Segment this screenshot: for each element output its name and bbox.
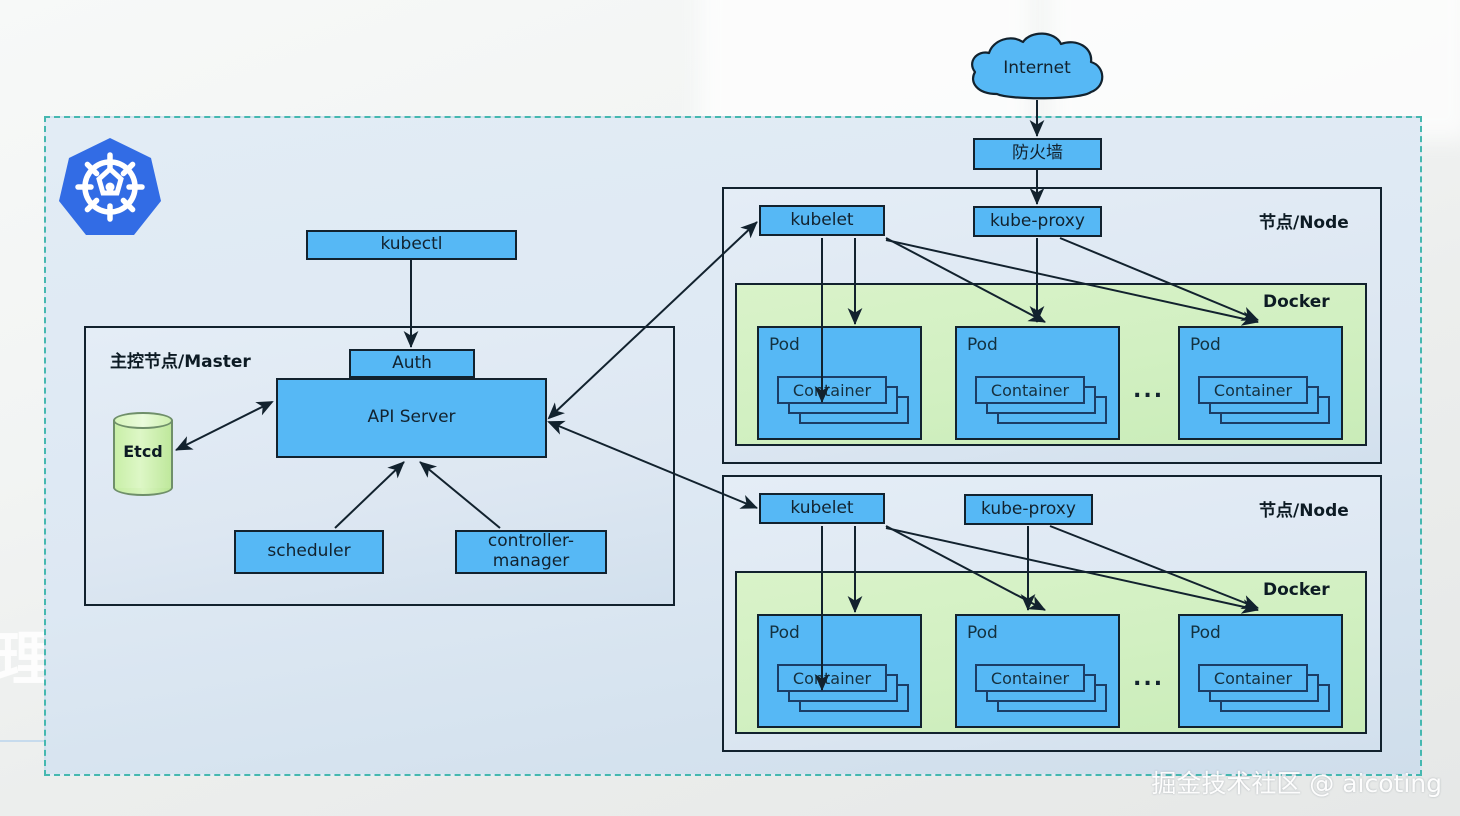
auth-box[interactable]: Auth bbox=[349, 349, 475, 378]
node-1-pod-3-label: Pod bbox=[1190, 335, 1221, 355]
watermark: 掘金技术社区 @ aicoting bbox=[1151, 764, 1442, 800]
etcd-label: Etcd bbox=[113, 442, 173, 461]
api-server-label: API Server bbox=[367, 408, 455, 428]
node-2-label: 节点/Node bbox=[1259, 496, 1349, 521]
node-1-pods-ellipsis: ... bbox=[1133, 380, 1164, 402]
node-2-pod-2-container-stack[interactable]: Container bbox=[975, 664, 1107, 716]
internet-cloud: Internet bbox=[963, 32, 1111, 104]
node-1-pod-1-container: Container bbox=[777, 376, 887, 404]
node-2-kubelet-label: kubelet bbox=[790, 499, 853, 519]
scheduler-label: scheduler bbox=[267, 542, 350, 562]
node-1-docker-label: Docker bbox=[1263, 292, 1330, 312]
node-2-kube-proxy-box[interactable]: kube-proxy bbox=[964, 494, 1093, 525]
etcd-top bbox=[113, 412, 173, 429]
node-1-pod-1-container-stack[interactable]: Container bbox=[777, 376, 909, 428]
controller-manager-box[interactable]: controller- manager bbox=[455, 530, 607, 574]
node-1-label: 节点/Node bbox=[1259, 208, 1349, 233]
api-server-box[interactable]: API Server bbox=[276, 378, 547, 458]
node-2-pod-1-label: Pod bbox=[769, 623, 800, 643]
node-1-pod-1[interactable]: Pod Container bbox=[757, 326, 922, 440]
node-1-pod-3-container: Container bbox=[1198, 376, 1308, 404]
node-2-docker-label: Docker bbox=[1263, 580, 1330, 600]
node-1-pod-2-container-stack[interactable]: Container bbox=[975, 376, 1107, 428]
internet-label: Internet bbox=[963, 58, 1111, 78]
node-1-kube-proxy-label: kube-proxy bbox=[990, 212, 1085, 232]
node-2-kubelet-box[interactable]: kubelet bbox=[759, 493, 885, 524]
kubectl-box[interactable]: kubectl bbox=[306, 230, 517, 260]
diagram-canvas: 理检 Internet bbox=[0, 0, 1460, 816]
node-2-pod-2-label: Pod bbox=[967, 623, 998, 643]
node-1-pod-2[interactable]: Pod Container bbox=[955, 326, 1120, 440]
node-2-pod-1[interactable]: Pod Container bbox=[757, 614, 922, 728]
node-2-pod-3-label: Pod bbox=[1190, 623, 1221, 643]
firewall-label: 防火墙 bbox=[1012, 144, 1063, 164]
node-1-pod-1-label: Pod bbox=[769, 335, 800, 355]
node-1-kubelet-box[interactable]: kubelet bbox=[759, 205, 885, 236]
node-1-kube-proxy-box[interactable]: kube-proxy bbox=[973, 206, 1102, 237]
kubectl-label: kubectl bbox=[380, 235, 442, 255]
etcd-cylinder[interactable]: Etcd bbox=[113, 412, 173, 496]
node-2-pod-3-container-stack[interactable]: Container bbox=[1198, 664, 1330, 716]
controller-manager-label: controller- manager bbox=[488, 532, 574, 571]
scheduler-box[interactable]: scheduler bbox=[234, 530, 384, 574]
master-region-label: 主控节点/Master bbox=[110, 347, 251, 372]
node-2-pod-3-container: Container bbox=[1198, 664, 1308, 692]
node-2-pod-2[interactable]: Pod Container bbox=[955, 614, 1120, 728]
node-2-kube-proxy-label: kube-proxy bbox=[981, 500, 1076, 520]
firewall-box[interactable]: 防火墙 bbox=[973, 138, 1102, 170]
node-2-pod-3[interactable]: Pod Container bbox=[1178, 614, 1343, 728]
kubernetes-logo-icon bbox=[58, 135, 162, 239]
node-2-pod-1-container-stack[interactable]: Container bbox=[777, 664, 909, 716]
node-1-pod-3[interactable]: Pod Container bbox=[1178, 326, 1343, 440]
node-1-pod-2-label: Pod bbox=[967, 335, 998, 355]
node-2-pod-2-container: Container bbox=[975, 664, 1085, 692]
node-1-kubelet-label: kubelet bbox=[790, 211, 853, 231]
node-1-pod-3-container-stack[interactable]: Container bbox=[1198, 376, 1330, 428]
node-2-pods-ellipsis: ... bbox=[1133, 668, 1164, 690]
auth-label: Auth bbox=[392, 354, 432, 374]
node-2-pod-1-container: Container bbox=[777, 664, 887, 692]
node-1-pod-2-container: Container bbox=[975, 376, 1085, 404]
